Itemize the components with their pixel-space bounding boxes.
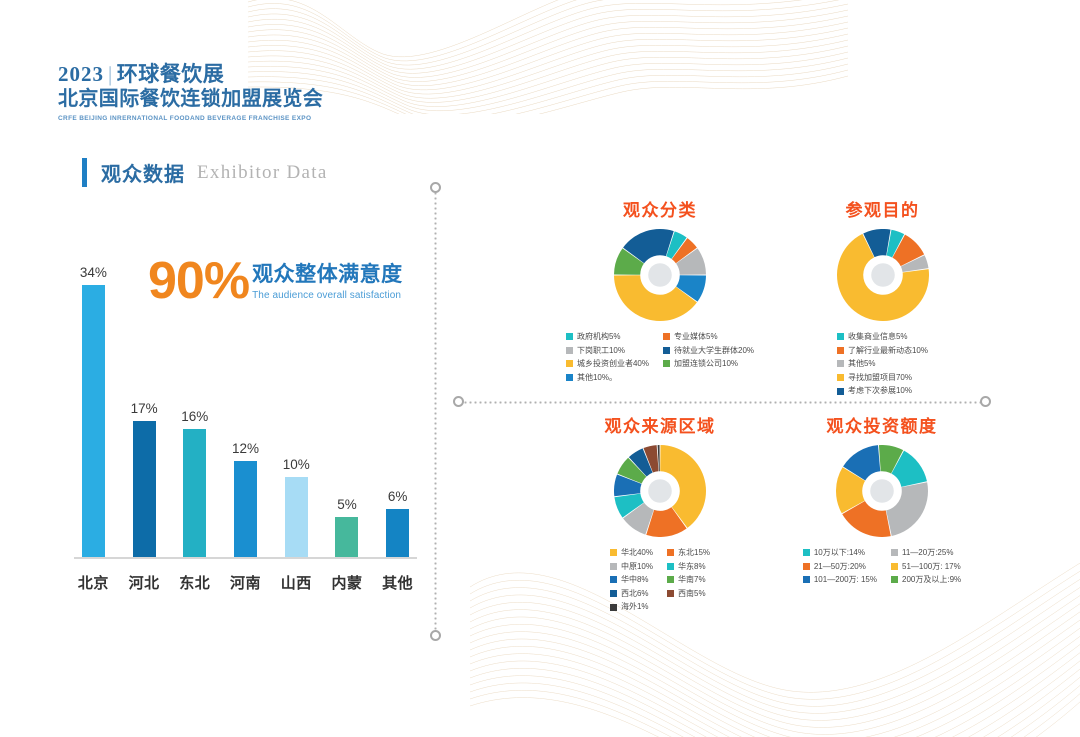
- donut-title-investment-amount: 观众投资额度: [768, 412, 996, 437]
- donut-svg: [837, 229, 929, 321]
- legend-label: 了解行业最新动态10%: [848, 345, 928, 357]
- bar-rect: [234, 461, 257, 557]
- satisfaction-percent: 90%: [148, 258, 249, 306]
- legend-swatch: [667, 576, 674, 583]
- bar-chart-axis: [74, 557, 417, 559]
- satisfaction-label-cn: 观众整体满意度: [252, 263, 403, 286]
- legend-swatch: [566, 347, 573, 354]
- legend-item: 东北15%: [667, 547, 710, 559]
- donut-chart-investment-amount: 观众投资额度 10万以下:14%11—20万:25%21—50万:20%51—1…: [768, 412, 996, 586]
- legend-swatch: [663, 360, 670, 367]
- donut-legend-audience-category: 政府机构5%专业媒体5%下岗职工10%待就业大学生群体20%城乡投资创业者40%…: [540, 331, 780, 383]
- legend-item: 21—50万:20%: [803, 561, 877, 573]
- legend-label: 其他5%: [848, 358, 876, 370]
- donut-hub: [871, 263, 895, 287]
- legend-swatch: [837, 374, 844, 381]
- legend-swatch: [803, 576, 810, 583]
- legend-swatch: [803, 563, 810, 570]
- legend-swatch: [837, 333, 844, 340]
- legend-label: 200万及以上:9%: [902, 574, 961, 586]
- bar-category-label: 其他: [372, 572, 423, 593]
- legend-item: 10万以下:14%: [803, 547, 877, 559]
- legend-swatch: [566, 333, 573, 340]
- legend-swatch: [663, 333, 670, 340]
- legend-item: 城乡投资创业者40%: [566, 358, 649, 370]
- legend-item: 华南7%: [667, 574, 710, 586]
- section-title-en: Exhibitor Data: [197, 162, 328, 184]
- legend-item: 收集商业信息5%: [837, 331, 928, 343]
- legend-label: 101—200万: 15%: [814, 574, 877, 586]
- legend-item: 51—100万: 17%: [891, 561, 961, 573]
- legend-swatch: [837, 347, 844, 354]
- logo-line-3: CRFE BEIJING INRERNATIONAL FOODAND BEVER…: [58, 115, 323, 122]
- legend-item: 其他10%。: [566, 372, 649, 384]
- bar-category-label: 内蒙: [322, 572, 373, 593]
- legend-label: 专业媒体5%: [674, 331, 718, 343]
- legend-label: 其他10%。: [577, 372, 617, 384]
- legend-label: 华南7%: [678, 574, 706, 586]
- legend-label: 51—100万: 17%: [902, 561, 961, 573]
- donut-title-audience-category: 观众分类: [540, 196, 780, 221]
- donut-chart-visit-purpose: 参观目的 收集商业信息5%了解行业最新动态10%其他5%寻找加盟项目70%考虑下…: [775, 196, 990, 397]
- vertical-dotted-divider: [434, 186, 437, 636]
- bar-value-label: 17%: [131, 401, 158, 416]
- donut-title-visit-purpose: 参观目的: [775, 196, 990, 221]
- event-logo: 2023|环球餐饮展 北京国际餐饮连锁加盟展览会 CRFE BEIJING IN…: [58, 62, 323, 122]
- bar-category-label: 河北: [119, 572, 170, 593]
- legend-item: 寻找加盟项目70%: [837, 372, 928, 384]
- legend-swatch: [837, 360, 844, 367]
- title-accent-bar: [82, 158, 87, 187]
- bar-value-label: 6%: [388, 489, 408, 504]
- legend-label: 华北40%: [621, 547, 653, 559]
- legend-swatch: [837, 388, 844, 395]
- legend-label: 海外1%: [621, 601, 649, 613]
- donut-svg: [614, 445, 706, 537]
- logo-line-1: 2023|环球餐饮展: [58, 62, 323, 86]
- legend-item: 下岗职工10%: [566, 345, 649, 357]
- donut-chart-audience-category: 观众分类 政府机构5%专业媒体5%下岗职工10%待就业大学生群体20%城乡投资创…: [540, 196, 780, 383]
- bar-category-label: 山西: [271, 572, 322, 593]
- bar-category-label: 北京: [68, 572, 119, 593]
- legend-item: 华中8%: [610, 574, 653, 586]
- legend-item: 华东8%: [667, 561, 710, 573]
- legend-label: 收集商业信息5%: [848, 331, 908, 343]
- legend-item: 11—20万:25%: [891, 547, 961, 559]
- legend-label: 考虑下次参展10%: [848, 385, 912, 397]
- legend-label: 西南5%: [678, 588, 706, 600]
- decorative-swoosh-top: [248, 0, 848, 114]
- legend-item: 西北6%: [610, 588, 653, 600]
- legend-label: 待就业大学生群体20%: [674, 345, 754, 357]
- legend-swatch: [610, 590, 617, 597]
- logo-year: 2023: [58, 62, 104, 86]
- logo-divider: |: [104, 62, 117, 86]
- legend-item: 政府机构5%: [566, 331, 649, 343]
- legend-label: 加盟连锁公司10%: [674, 358, 738, 370]
- logo-line-2: 北京国际餐饮连锁加盟展览会: [58, 87, 323, 111]
- bar-rect: [285, 477, 308, 557]
- legend-item: 中原10%: [610, 561, 653, 573]
- donut-graphic-source-region: [545, 445, 775, 537]
- legend-swatch: [891, 576, 898, 583]
- bar-rect: [386, 509, 409, 557]
- legend-swatch: [667, 563, 674, 570]
- legend-swatch: [566, 360, 573, 367]
- legend-swatch: [610, 604, 617, 611]
- divider-node-top: [430, 182, 441, 193]
- donut-hub: [870, 479, 894, 503]
- legend-item: 101—200万: 15%: [803, 574, 877, 586]
- legend-label: 城乡投资创业者40%: [577, 358, 649, 370]
- section-title-cn: 观众数据: [101, 158, 185, 187]
- bar-rect: [335, 517, 358, 557]
- satisfaction-callout: 90% 观众整体满意度 The audience overall satisfa…: [148, 258, 403, 306]
- legend-swatch: [667, 549, 674, 556]
- satisfaction-label-en: The audience overall satisfaction: [252, 290, 403, 301]
- legend-swatch: [891, 563, 898, 570]
- legend-label: 东北15%: [678, 547, 710, 559]
- donut-legend-source-region: 华北40%东北15%中原10%华东8%华中8%华南7%西北6%西南5%海外1%: [545, 547, 775, 613]
- legend-swatch: [610, 576, 617, 583]
- legend-label: 中原10%: [621, 561, 653, 573]
- donut-legend-investment-amount: 10万以下:14%11—20万:25%21—50万:20%51—100万: 17…: [768, 547, 996, 586]
- bar-value-label: 5%: [337, 497, 357, 512]
- legend-item: 加盟连锁公司10%: [663, 358, 754, 370]
- bar-chart-labels: 北京河北东北河南山西内蒙其他: [68, 572, 423, 593]
- legend-item: 其他5%: [837, 358, 928, 370]
- donut-hub: [648, 479, 672, 503]
- donut-graphic-visit-purpose: [775, 229, 990, 321]
- legend-swatch: [803, 549, 810, 556]
- bar-value-label: 16%: [181, 409, 208, 424]
- legend-label: 下岗职工10%: [577, 345, 625, 357]
- donut-svg: [836, 445, 928, 537]
- legend-item: 华北40%: [610, 547, 653, 559]
- legend-label: 政府机构5%: [577, 331, 621, 343]
- bar-category-label: 东北: [169, 572, 220, 593]
- bar-value-label: 12%: [232, 441, 259, 456]
- donut-svg: [614, 229, 706, 321]
- legend-label: 11—20万:25%: [902, 547, 953, 559]
- divider-node-mid-left: [453, 396, 464, 407]
- legend-item: 西南5%: [667, 588, 710, 600]
- donut-hub: [648, 263, 672, 287]
- bar-category-label: 河南: [220, 572, 271, 593]
- divider-node-bottom: [430, 630, 441, 641]
- divider-node-mid-right: [980, 396, 991, 407]
- legend-label: 华东8%: [678, 561, 706, 573]
- donut-legend-visit-purpose: 收集商业信息5%了解行业最新动态10%其他5%寻找加盟项目70%考虑下次参展10…: [775, 331, 990, 397]
- legend-item: 考虑下次参展10%: [837, 385, 928, 397]
- legend-swatch: [566, 374, 573, 381]
- bar-column: 34%: [68, 247, 119, 557]
- bar-rect: [82, 285, 105, 557]
- donut-graphic-audience-category: [540, 229, 780, 321]
- donut-graphic-investment-amount: [768, 445, 996, 537]
- legend-item: 200万及以上:9%: [891, 574, 961, 586]
- legend-item: 海外1%: [610, 601, 653, 613]
- legend-swatch: [891, 549, 898, 556]
- legend-item: 专业媒体5%: [663, 331, 754, 343]
- legend-label: 10万以下:14%: [814, 547, 865, 559]
- bar-rect: [133, 421, 156, 557]
- legend-swatch: [663, 347, 670, 354]
- legend-label: 21—50万:20%: [814, 561, 866, 573]
- section-title: 观众数据 Exhibitor Data: [82, 158, 328, 187]
- legend-swatch: [610, 563, 617, 570]
- legend-item: 待就业大学生群体20%: [663, 345, 754, 357]
- logo-name-cn: 环球餐饮展: [117, 62, 225, 86]
- legend-label: 华中8%: [621, 574, 649, 586]
- horizontal-dotted-divider: [458, 401, 986, 404]
- legend-item: 了解行业最新动态10%: [837, 345, 928, 357]
- bar-value-label: 34%: [80, 265, 107, 280]
- legend-label: 西北6%: [621, 588, 649, 600]
- donut-chart-source-region: 观众来源区域 华北40%东北15%中原10%华东8%华中8%华南7%西北6%西南…: [545, 412, 775, 613]
- poster-page: 2023|环球餐饮展 北京国际餐饮连锁加盟展览会 CRFE BEIJING IN…: [0, 0, 1080, 737]
- legend-swatch: [667, 590, 674, 597]
- legend-swatch: [610, 549, 617, 556]
- donut-title-source-region: 观众来源区域: [545, 412, 775, 437]
- bar-rect: [183, 429, 206, 557]
- bar-value-label: 10%: [283, 457, 310, 472]
- legend-label: 寻找加盟项目70%: [848, 372, 912, 384]
